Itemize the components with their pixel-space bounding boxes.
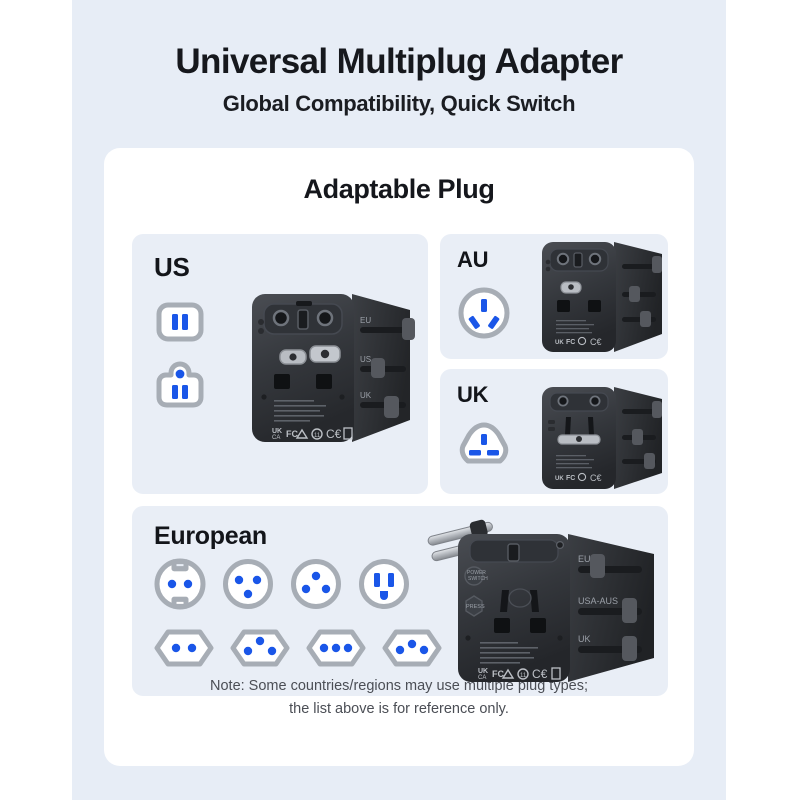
svg-text:EU: EU bbox=[578, 554, 591, 564]
device-label-usa-aus: US bbox=[360, 355, 371, 364]
plug-type-b-icon bbox=[156, 361, 204, 414]
adapter-photo-us: UK CA FC 11 C€ bbox=[234, 270, 428, 475]
panel-label-au: AU bbox=[457, 247, 488, 273]
svg-text:UK: UK bbox=[478, 668, 488, 675]
us-icon-group bbox=[156, 302, 204, 414]
plug-type-f-icon bbox=[154, 558, 206, 615]
plug-type-g-icon bbox=[457, 421, 511, 478]
plug-type-e-icon bbox=[222, 558, 274, 615]
svg-text:CA: CA bbox=[478, 675, 486, 681]
svg-text:C€: C€ bbox=[326, 427, 342, 441]
page-subtitle: Global Compatibility, Quick Switch bbox=[72, 91, 726, 117]
plug-type-b-round-icon bbox=[358, 558, 410, 615]
svg-text:UK: UK bbox=[272, 428, 282, 435]
svg-text:USA-AUS: USA-AUS bbox=[578, 596, 618, 606]
european-icon-group bbox=[154, 558, 442, 672]
panel-uk[interactable]: UK bbox=[440, 369, 668, 494]
european-icon-row-2 bbox=[154, 629, 442, 672]
plug-type-k-icon bbox=[290, 558, 342, 615]
adaptable-plug-card: Adaptable Plug US bbox=[104, 148, 694, 766]
european-icon-row-1 bbox=[154, 558, 442, 615]
panels-top-row: US bbox=[132, 234, 668, 494]
svg-text:C€: C€ bbox=[532, 667, 548, 681]
svg-text:C€: C€ bbox=[590, 337, 602, 347]
page-header: Universal Multiplug Adapter Global Compa… bbox=[72, 0, 726, 117]
page-title: Universal Multiplug Adapter bbox=[72, 42, 726, 82]
svg-text:SWITCH: SWITCH bbox=[468, 576, 488, 582]
plug-type-a-icon bbox=[156, 302, 204, 347]
svg-text:FC: FC bbox=[566, 339, 575, 346]
panel-label-european: European bbox=[154, 522, 267, 551]
plug-type-l-hex-icon bbox=[306, 629, 366, 672]
svg-text:C€: C€ bbox=[590, 473, 602, 483]
plug-type-panels: US bbox=[132, 234, 668, 696]
panel-european[interactable]: European bbox=[132, 506, 668, 696]
panel-column-right: AU bbox=[440, 234, 668, 494]
plug-type-j-hex-icon bbox=[230, 629, 290, 672]
plug-type-l3-hex-icon bbox=[382, 629, 442, 672]
card-title: Adaptable Plug bbox=[104, 174, 694, 205]
svg-text:FC: FC bbox=[566, 475, 575, 482]
page-background: Universal Multiplug Adapter Global Compa… bbox=[72, 0, 726, 800]
device-label-uk: UK bbox=[360, 391, 372, 400]
device-label-eu: EU bbox=[360, 316, 371, 325]
adapter-photo-au: UK FC C€ bbox=[528, 234, 668, 359]
plug-type-c-hex-icon bbox=[154, 629, 214, 672]
panel-label-us: US bbox=[154, 252, 190, 283]
svg-text:11: 11 bbox=[520, 673, 527, 679]
adapter-photo-eu: POWER SWITCH PRESS bbox=[422, 506, 668, 696]
svg-text:UK: UK bbox=[555, 476, 564, 482]
panel-au[interactable]: AU bbox=[440, 234, 668, 359]
device-label-press: PRESS bbox=[466, 604, 485, 610]
plug-type-i-icon bbox=[457, 286, 511, 345]
svg-text:UK: UK bbox=[555, 340, 564, 346]
note-line-2: the list above is for reference only. bbox=[104, 698, 694, 720]
panel-column-left: US bbox=[132, 234, 428, 494]
svg-text:UK: UK bbox=[578, 634, 591, 644]
svg-text:CA: CA bbox=[272, 435, 280, 441]
panel-us[interactable]: US bbox=[132, 234, 428, 494]
adapter-photo-uk: UK FC C€ bbox=[528, 373, 668, 494]
svg-text:11: 11 bbox=[314, 433, 321, 439]
panel-label-uk: UK bbox=[457, 382, 488, 408]
